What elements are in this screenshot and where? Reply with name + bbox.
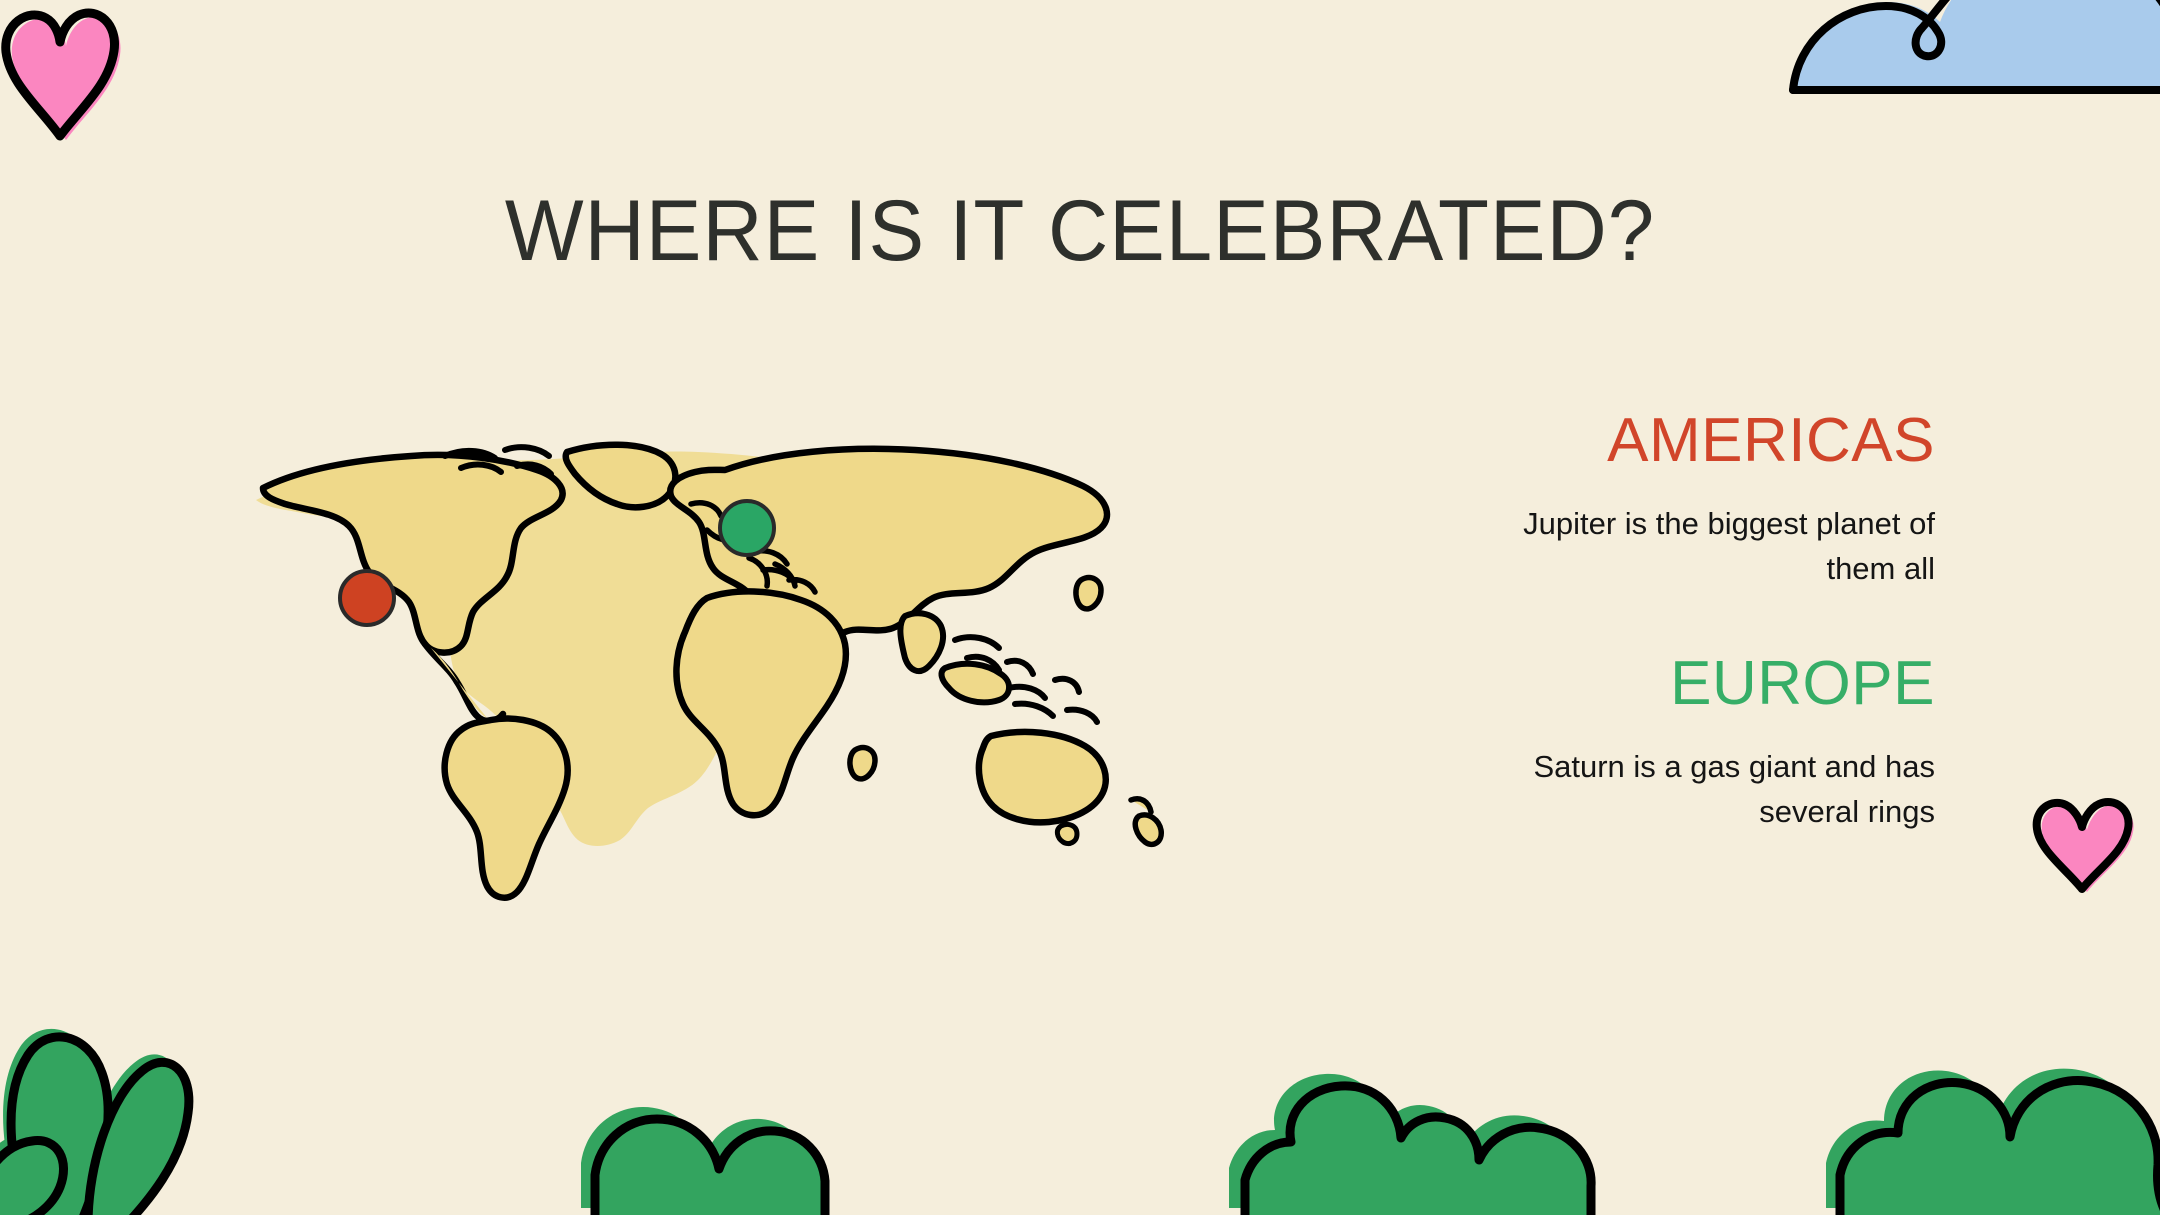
slide-canvas: WHERE IS IT CELEBRATED?: [0, 0, 2160, 1215]
bush-icon: [595, 1085, 1055, 1215]
region-heading-europe: EUROPE: [1370, 648, 1935, 719]
page-title: WHERE IS IT CELEBRATED?: [32, 186, 2127, 276]
bush-icon: [1840, 1035, 2160, 1215]
region-block-europe: EUROPE Saturn is a gas giant and has sev…: [1370, 648, 1935, 835]
region-body-europe: Saturn is a gas giant and has several ri…: [1505, 745, 1935, 835]
leaf-plant-icon: [0, 985, 300, 1215]
americas-marker: [340, 571, 394, 625]
bush-icon: [1245, 1080, 1805, 1215]
heart-icon: [0, 0, 124, 146]
region-block-americas: AMERICAS Jupiter is the biggest planet o…: [1370, 405, 1935, 592]
heart-icon: [2026, 795, 2138, 895]
world-map[interactable]: [255, 430, 1195, 930]
cloud-icon: [1770, 0, 2160, 100]
region-list: AMERICAS Jupiter is the biggest planet o…: [1370, 405, 1935, 835]
europe-marker: [720, 501, 774, 555]
region-body-americas: Jupiter is the biggest planet of them al…: [1505, 502, 1935, 592]
region-heading-americas: AMERICAS: [1370, 405, 1935, 476]
